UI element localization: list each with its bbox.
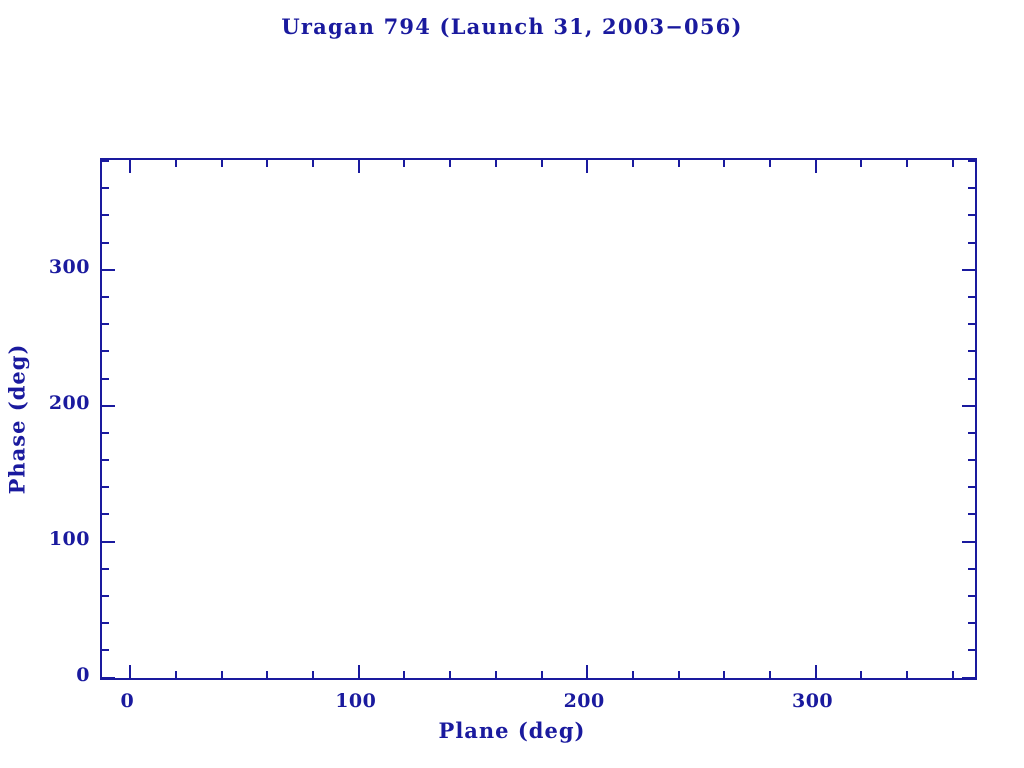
x-axis-label: Plane (deg)	[0, 718, 1024, 743]
axis-tick	[449, 160, 451, 167]
axis-tick	[678, 160, 680, 167]
axis-tick	[962, 541, 975, 543]
axis-tick	[175, 671, 177, 678]
axis-tick	[102, 595, 109, 597]
axis-tick	[102, 160, 109, 162]
axis-tick	[632, 671, 634, 678]
axis-tick	[962, 269, 975, 271]
axis-tick	[632, 160, 634, 167]
axis-tick	[968, 432, 975, 434]
axis-tick	[312, 160, 314, 167]
x-tick-label: 300	[792, 690, 833, 712]
axis-tick	[968, 242, 975, 244]
y-tick-label: 0	[76, 664, 90, 686]
axis-tick	[968, 649, 975, 651]
axis-tick	[769, 160, 771, 167]
axis-tick	[266, 160, 268, 167]
axis-tick	[968, 595, 975, 597]
axis-tick	[586, 160, 588, 173]
axis-tick	[968, 350, 975, 352]
x-tick-label: 0	[121, 690, 135, 712]
axis-tick	[175, 160, 177, 167]
axis-tick	[102, 350, 109, 352]
axis-tick	[129, 160, 131, 173]
axis-tick	[906, 160, 908, 167]
axis-tick	[102, 568, 109, 570]
axis-tick	[968, 486, 975, 488]
axis-tick	[495, 671, 497, 678]
axis-tick	[586, 665, 588, 678]
axis-tick	[102, 459, 109, 461]
axis-tick	[678, 671, 680, 678]
axis-tick	[952, 160, 954, 167]
plot-area	[102, 160, 975, 678]
y-axis-label: Phase (deg)	[5, 344, 30, 495]
axis-tick	[962, 405, 975, 407]
axis-tick	[403, 671, 405, 678]
axis-tick	[102, 432, 109, 434]
axis-tick	[102, 649, 109, 651]
axis-tick	[102, 378, 109, 380]
axis-tick	[723, 671, 725, 678]
axis-tick	[968, 568, 975, 570]
axis-tick	[221, 671, 223, 678]
axis-tick	[358, 665, 360, 678]
axis-tick	[495, 160, 497, 167]
axis-tick	[266, 671, 268, 678]
axis-tick	[102, 622, 109, 624]
axis-tick	[449, 671, 451, 678]
axis-tick	[129, 665, 131, 678]
axis-tick	[102, 677, 115, 679]
axis-tick	[906, 671, 908, 678]
axis-tick	[358, 160, 360, 173]
axis-tick	[102, 214, 109, 216]
axis-tick	[968, 160, 975, 162]
page-title: Uragan 794 (Launch 31, 2003−056)	[0, 14, 1024, 39]
axis-tick	[968, 622, 975, 624]
axis-tick	[102, 405, 115, 407]
chart-page: Uragan 794 (Launch 31, 2003−056) 0100200…	[0, 0, 1024, 768]
axis-tick	[312, 671, 314, 678]
axis-tick	[860, 160, 862, 167]
axis-tick	[723, 160, 725, 167]
y-tick-label: 200	[49, 392, 90, 414]
axis-tick	[968, 378, 975, 380]
axis-tick	[102, 242, 109, 244]
axis-tick	[952, 671, 954, 678]
axis-tick	[221, 160, 223, 167]
axis-tick	[541, 671, 543, 678]
axis-tick	[968, 296, 975, 298]
axis-tick	[102, 323, 109, 325]
axis-tick	[102, 269, 115, 271]
x-tick-label: 100	[335, 690, 376, 712]
axis-tick	[968, 187, 975, 189]
axis-tick	[962, 677, 975, 679]
axis-tick	[815, 160, 817, 173]
y-tick-label: 100	[49, 528, 90, 550]
axis-tick	[102, 187, 109, 189]
axis-tick	[102, 513, 109, 515]
axis-tick	[403, 160, 405, 167]
plot-frame	[100, 158, 977, 680]
axis-tick	[102, 541, 115, 543]
axis-tick	[860, 671, 862, 678]
axis-tick	[968, 214, 975, 216]
axis-tick	[968, 459, 975, 461]
axis-tick	[102, 296, 109, 298]
axis-tick	[769, 671, 771, 678]
axis-tick	[541, 160, 543, 167]
axis-tick	[968, 513, 975, 515]
y-axis-label-holder: Phase (deg)	[0, 158, 34, 680]
axis-tick	[968, 323, 975, 325]
axis-tick	[102, 486, 109, 488]
axis-tick	[815, 665, 817, 678]
y-tick-label: 300	[49, 256, 90, 278]
x-tick-label: 200	[564, 690, 605, 712]
